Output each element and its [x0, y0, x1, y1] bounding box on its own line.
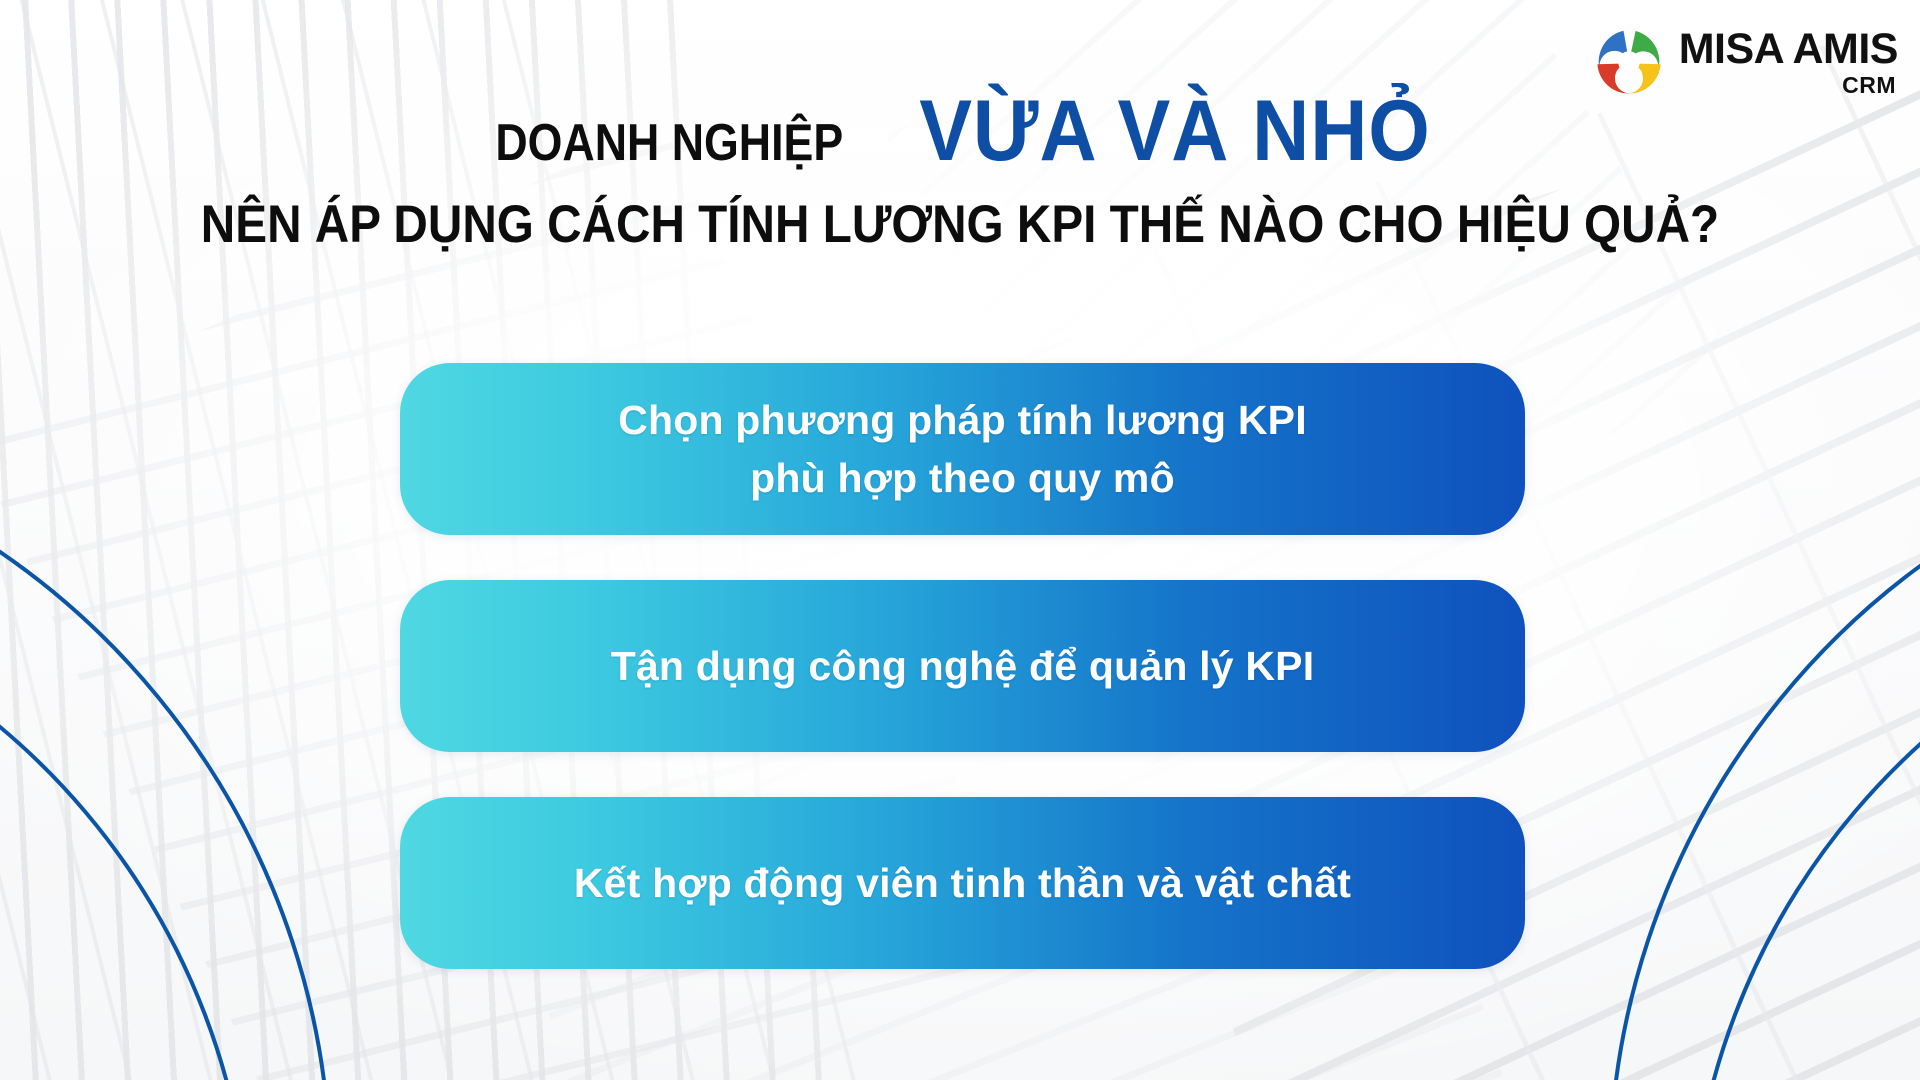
- headline-subline: NÊN ÁP DỤNG CÁCH TÍNH LƯƠNG KPI THẾ NÀO …: [96, 196, 1824, 254]
- headline-block: DOANH NGHIỆP VỪA VÀ NHỎ NÊN ÁP DỤNG CÁCH…: [0, 88, 1920, 254]
- headline-accent: VỪA VÀ NHỎ: [919, 88, 1431, 174]
- key-point-pill-1[interactable]: Chọn phương pháp tính lương KPI phù hợp …: [400, 363, 1525, 535]
- key-points-list: Chọn phương pháp tính lương KPI phù hợp …: [400, 363, 1525, 969]
- key-point-label: Chọn phương pháp tính lương KPI phù hợp …: [574, 391, 1351, 507]
- headline-row-primary: DOANH NGHIỆP VỪA VÀ NHỎ: [0, 88, 1920, 174]
- key-point-label: Kết hợp động viên tinh thần và vật chất: [530, 854, 1395, 912]
- key-point-pill-3[interactable]: Kết hợp động viên tinh thần và vật chất: [400, 797, 1525, 969]
- arc-left-outer: [0, 430, 330, 1080]
- infographic-poster: MISA AMIS CRM DOANH NGHIỆP VỪA VÀ NHỎ NÊ…: [0, 0, 1920, 1080]
- arc-right-outer: [1610, 430, 1920, 1080]
- arc-left-inner: [0, 580, 250, 1080]
- brand-name: MISA AMIS: [1679, 28, 1898, 71]
- key-point-pill-2[interactable]: Tận dụng công nghệ để quản lý KPI: [400, 580, 1525, 752]
- brand-logo-text: MISA AMIS CRM: [1679, 28, 1898, 97]
- arc-right-inner: [1690, 580, 1920, 1080]
- headline-kicker: DOANH NGHIỆP: [495, 116, 843, 171]
- key-point-label: Tận dụng công nghệ để quản lý KPI: [567, 637, 1359, 695]
